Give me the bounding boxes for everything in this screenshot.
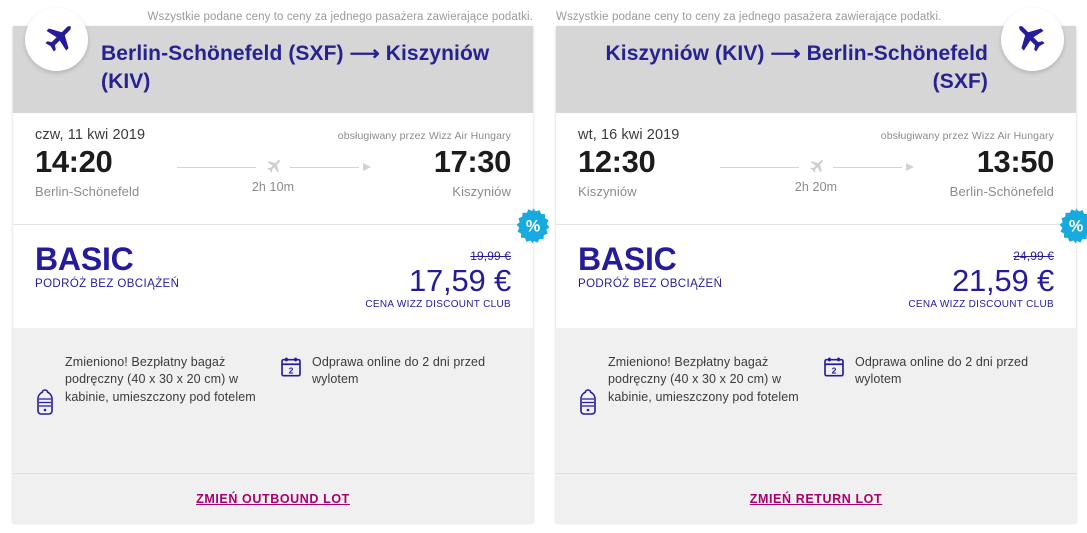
leg-arrow-icon [906,163,914,171]
outbound-price-original: 19,99 € [365,249,511,263]
leg-arrow-icon [363,163,371,171]
feature-cabin-bag: Zmieniono! Bezpłatny bagaż podręczny (40… [35,354,266,455]
outbound-fare-name: BASIC [35,243,179,277]
return-price-current: 21,59 € [908,264,1054,298]
feature-cabin-bag-text: Zmieniono! Bezpłatny bagaż podręczny (40… [65,354,266,406]
feature-online-checkin: 2 Odprawa online do 2 dni przed wylotem [823,354,1054,455]
price-notice-right: Wszystkie podane ceny to ceny za jednego… [556,11,1076,23]
return-features: Zmieniono! Bezpłatny bagaż podręczny (40… [556,328,1076,473]
airplane-icon [1001,8,1064,71]
return-duration: 2h 20m [716,180,916,194]
outbound-arrival-time: 17:30 [379,145,511,180]
return-arrival-airport: Berlin-Schönefeld [922,184,1054,199]
return-price-block: 24,99 € 21,59 € CENA WIZZ DISCOUNT CLUB [908,243,1054,310]
outbound-duration: 2h 10m [173,180,373,194]
change-outbound-flight-link[interactable]: ZMIEŃ OUTBOUND LOT [196,492,350,506]
svg-text:2: 2 [832,365,837,375]
outbound-departure-airport: Berlin-Schönefeld [35,184,167,199]
return-price-original: 24,99 € [908,249,1054,263]
outbound-fare-row[interactable]: BASIC PODRÓŻ BEZ OBCIĄŻEŃ 19,99 € 17,59 … [13,225,533,328]
outbound-card-header: Berlin-Schönefeld (SXF) ⟶ Kiszyniów (KIV… [13,26,533,113]
return-price-note: CENA WIZZ DISCOUNT CLUB [908,299,1054,310]
return-departure-date: wt, 16 kwi 2019 [578,127,679,143]
return-departure-time: 12:30 [578,145,710,180]
outbound-itinerary: czw, 11 kwi 2019 obsługiwany przez Wizz … [13,113,533,224]
feature-cabin-bag: Zmieniono! Bezpłatny bagaż podręczny (40… [578,354,809,455]
outbound-arrival-block: 17:30 Kiszyniów [379,145,511,199]
backpack-icon [578,389,598,420]
outbound-departure-time: 14:20 [35,145,167,180]
feature-online-checkin: 2 Odprawa online do 2 dni przed wylotem [280,354,511,455]
return-operator: obsługiwany przez Wizz Air Hungary [881,127,1054,142]
outbound-flight-card: Berlin-Schönefeld (SXF) ⟶ Kiszyniów (KIV… [13,26,533,522]
return-departure-airport: Kiszyniów [578,184,710,199]
outbound-arrival-airport: Kiszyniów [379,184,511,199]
discount-percent-badge-icon: % [1057,207,1087,245]
change-return-flight-link[interactable]: ZMIEŃ RETURN LOT [750,492,883,506]
outbound-price-note: CENA WIZZ DISCOUNT CLUB [365,299,511,310]
outbound-route-title: Berlin-Schönefeld (SXF) ⟶ Kiszyniów (KIV… [101,40,511,95]
flight-summary-page: Wszystkie podane ceny to ceny za jednego… [0,0,1087,533]
svg-text:2: 2 [289,365,294,375]
outbound-price-block: 19,99 € 17,59 € CENA WIZZ DISCOUNT CLUB [365,243,511,310]
price-notice-left: Wszystkie podane ceny to ceny za jednego… [13,11,533,23]
discount-percent-badge-icon: % [514,207,552,245]
return-flight-card: Kiszyniów (KIV) ⟶ Berlin-Schönefeld (SXF… [556,26,1076,522]
outbound-operator: obsługiwany przez Wizz Air Hungary [338,127,511,142]
return-fare-name: BASIC [578,243,722,277]
feature-cabin-bag-text: Zmieniono! Bezpłatny bagaż podręczny (40… [608,354,809,406]
return-arrival-block: 13:50 Berlin-Schönefeld [922,145,1054,199]
airplane-small-icon [256,158,290,181]
calendar-2-icon: 2 [280,354,302,383]
return-route-title: Kiszyniów (KIV) ⟶ Berlin-Schönefeld (SXF… [578,40,988,95]
airplane-small-icon [799,158,833,181]
outbound-fare-tagline: PODRÓŻ BEZ OBCIĄŻEŃ [35,278,179,290]
svg-text:%: % [526,218,540,236]
outbound-leg: 2h 10m [167,158,379,194]
return-departure-block: 12:30 Kiszyniów [578,145,710,199]
outbound-card-footer: ZMIEŃ OUTBOUND LOT [13,473,533,523]
return-fare-tagline: PODRÓŻ BEZ OBCIĄŻEŃ [578,278,722,290]
outbound-departure-date: czw, 11 kwi 2019 [35,127,145,143]
outbound-price-current: 17,59 € [365,264,511,298]
return-itinerary: wt, 16 kwi 2019 obsługiwany przez Wizz A… [556,113,1076,224]
return-fare-row[interactable]: BASIC PODRÓŻ BEZ OBCIĄŻEŃ 24,99 € 21,59 … [556,225,1076,328]
calendar-2-icon: 2 [823,354,845,383]
outbound-features: Zmieniono! Bezpłatny bagaż podręczny (40… [13,328,533,473]
airplane-icon [25,8,88,71]
return-leg: 2h 20m [710,158,922,194]
outbound-departure-block: 14:20 Berlin-Schönefeld [35,145,167,199]
return-card-header: Kiszyniów (KIV) ⟶ Berlin-Schönefeld (SXF… [556,26,1076,113]
svg-text:%: % [1069,218,1083,236]
backpack-icon [35,389,55,420]
feature-online-checkin-text: Odprawa online do 2 dni przed wylotem [855,354,1054,389]
return-card-footer: ZMIEŃ RETURN LOT [556,473,1076,523]
return-arrival-time: 13:50 [922,145,1054,180]
feature-online-checkin-text: Odprawa online do 2 dni przed wylotem [312,354,511,389]
